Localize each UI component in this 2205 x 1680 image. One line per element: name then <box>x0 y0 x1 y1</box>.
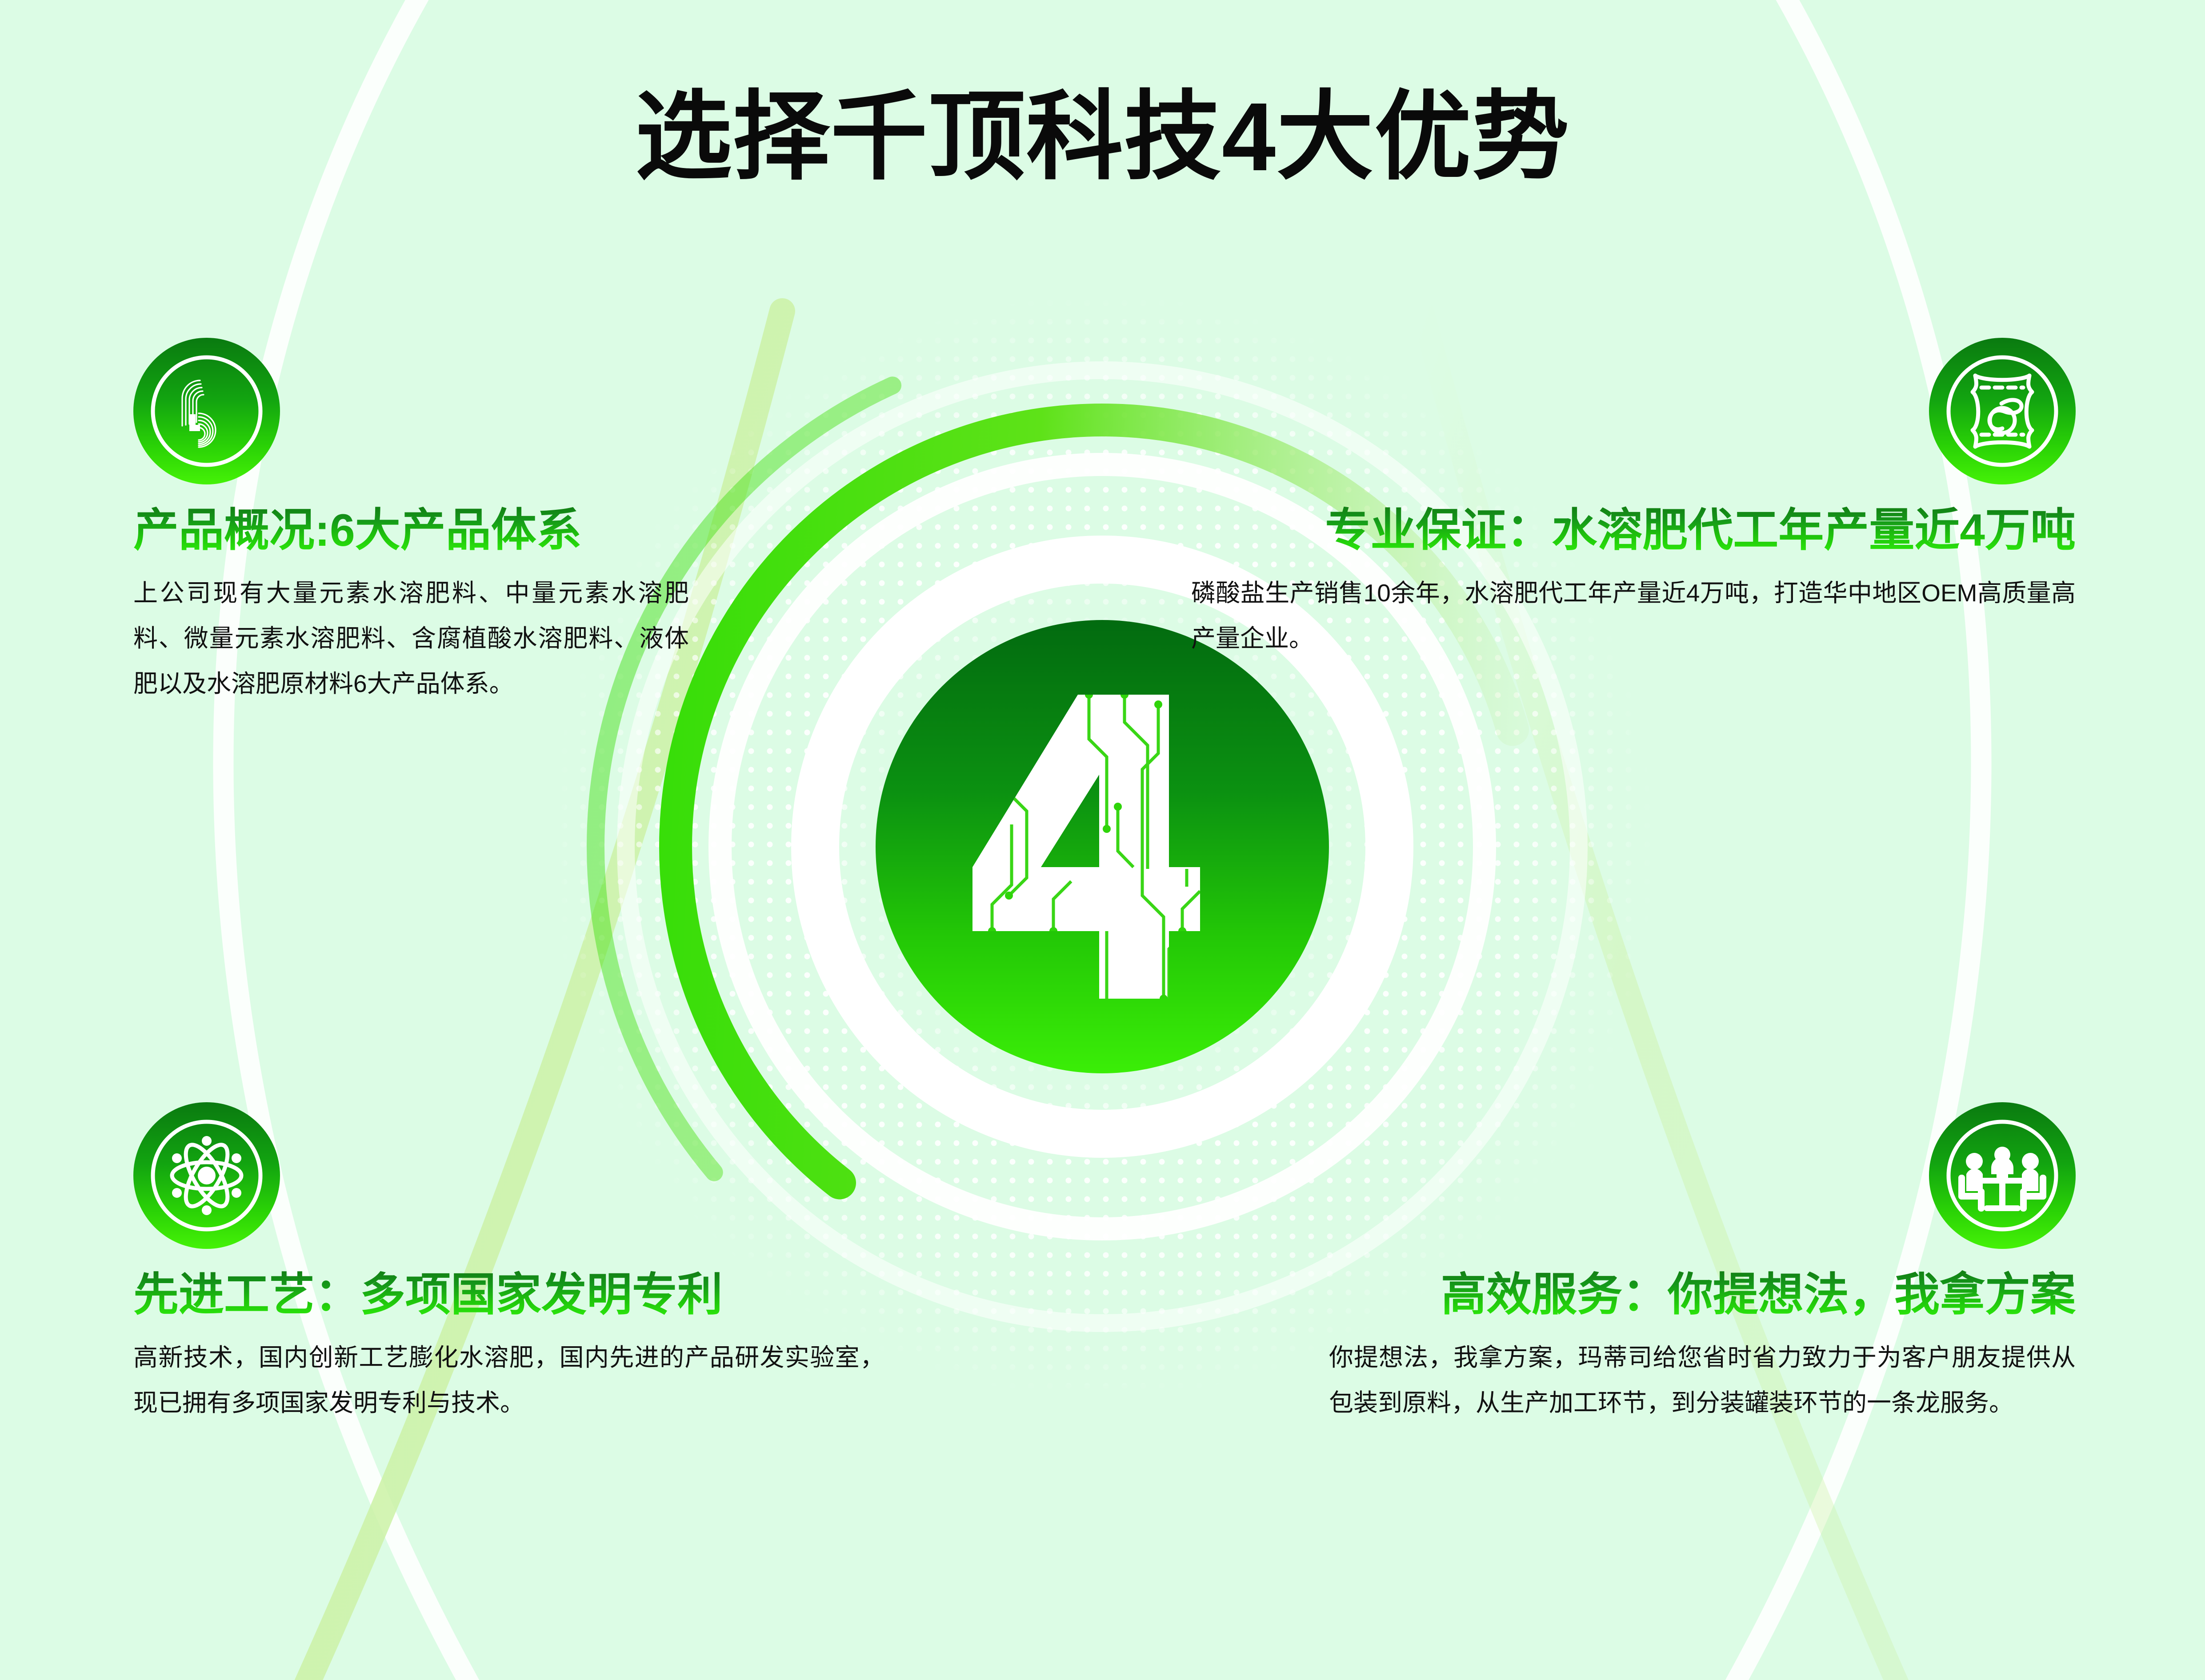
number-six-circuit-icon <box>133 338 280 484</box>
atom-icon <box>133 1102 280 1249</box>
advantage-heading: 专业保证：水溶肥代工年产量近4万吨 <box>1191 505 2076 556</box>
advantage-body: 上公司现有大量元素水溶肥料、中量元素水溶肥料、微量元素水溶肥料、含腐植酸水溶肥料… <box>133 571 689 706</box>
advantage-card-top-right: 专业保证：水溶肥代工年产量近4万吨 磷酸盐生产销售10余年，水溶肥代工年产量近4… <box>1191 338 2076 661</box>
meeting-people-icon <box>1929 1102 2076 1249</box>
icon-row <box>1329 1102 2076 1249</box>
icon-row <box>133 1102 889 1249</box>
advantage-card-bottom-right: 高效服务：你提想法，我拿方案 你提想法，我拿方案，玛蒂司给您省时省力致力于为客户… <box>1329 1102 2076 1426</box>
advantage-body: 高新技术，国内创新工艺膨化水溶肥，国内先进的产品研发实验室，现已拥有多项国家发明… <box>133 1335 884 1426</box>
icon-row <box>1191 338 2076 484</box>
advantage-heading: 高效服务：你提想法，我拿方案 <box>1329 1269 2076 1320</box>
advantage-card-top-left: 产品概况:6大产品体系 上公司现有大量元素水溶肥料、中量元素水溶肥料、微量元素水… <box>133 338 711 706</box>
center-number-four-icon <box>876 620 1329 1073</box>
advantage-card-bottom-left: 先进工艺：多项国家发明专利 高新技术，国内创新工艺膨化水溶肥，国内先进的产品研发… <box>133 1102 889 1426</box>
advantage-heading: 产品概况:6大产品体系 <box>133 505 711 556</box>
advantage-body: 你提想法，我拿方案，玛蒂司给您省时省力致力于为客户朋友提供从包装到原料，从生产加… <box>1329 1335 2076 1426</box>
icon-row <box>133 338 711 484</box>
infographic-canvas: 选择千顶科技4大优势 <box>0 0 2205 1680</box>
advantage-body: 磷酸盐生产销售10余年，水溶肥代工年产量近4万吨，打造华中地区OEM高质量高产量… <box>1191 571 2076 661</box>
advantage-heading: 先进工艺：多项国家发明专利 <box>133 1269 889 1320</box>
page-title: 选择千顶科技4大优势 <box>0 89 2205 186</box>
fertilizer-bag-icon <box>1929 338 2076 484</box>
